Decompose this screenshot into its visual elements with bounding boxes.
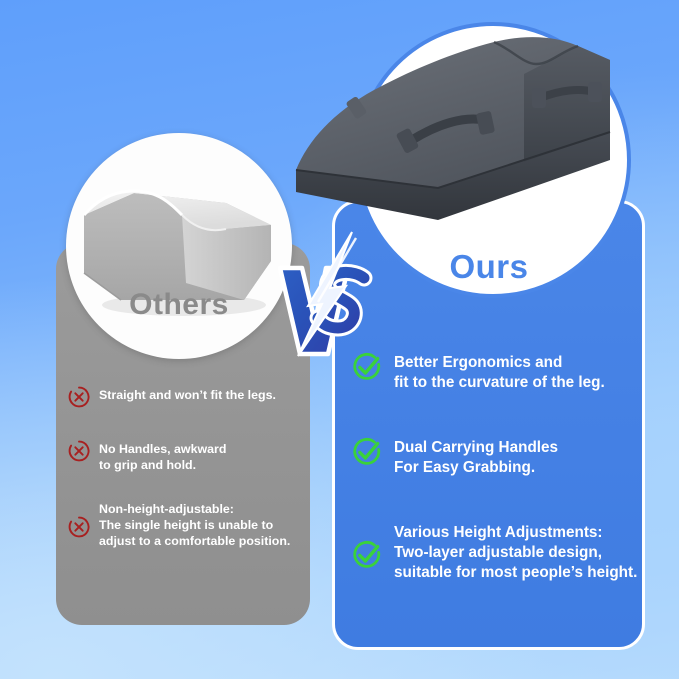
ours-bullet-item: Various Height Adjustments: Two-layer ad… — [352, 522, 642, 583]
others-bullet-item: Straight and won’t fit the legs. — [68, 386, 306, 413]
ours-title: Ours — [355, 248, 623, 286]
others-bullet-item: Non-height-adjustable: The single height… — [68, 500, 306, 549]
others-bullet-text: No Handles, awkward to grip and hold. — [99, 440, 226, 473]
others-title: Others — [66, 288, 292, 322]
ours-bullet-item: Better Ergonomics and fit to the curvatu… — [352, 352, 642, 393]
ours-bullet-item: Dual Carrying Handles For Easy Grabbing. — [352, 437, 642, 478]
comparison-infographic: Others Straight and won’t fit the legs. — [0, 0, 679, 679]
ours-bullet-text: Various Height Adjustments: Two-layer ad… — [394, 522, 637, 583]
ours-bullet-list: Better Ergonomics and fit to the curvatu… — [352, 352, 642, 627]
others-product-circle — [66, 133, 292, 359]
ours-bullet-text: Better Ergonomics and fit to the curvatu… — [394, 352, 605, 393]
check-circle-icon — [352, 437, 382, 472]
others-product-image — [66, 133, 292, 359]
cross-circle-icon — [68, 440, 90, 467]
ours-bullet-text: Dual Carrying Handles For Easy Grabbing. — [394, 437, 558, 478]
check-circle-icon — [352, 540, 382, 575]
cross-circle-icon — [68, 386, 90, 413]
cross-circle-icon — [68, 516, 90, 543]
others-bullet-item: No Handles, awkward to grip and hold. — [68, 440, 306, 473]
vs-badge — [268, 230, 376, 358]
others-bullet-list: Straight and won’t fit the legs. No Hand… — [68, 386, 306, 576]
others-bullet-text: Non-height-adjustable: The single height… — [99, 500, 290, 549]
others-bullet-text: Straight and won’t fit the legs. — [99, 386, 276, 403]
